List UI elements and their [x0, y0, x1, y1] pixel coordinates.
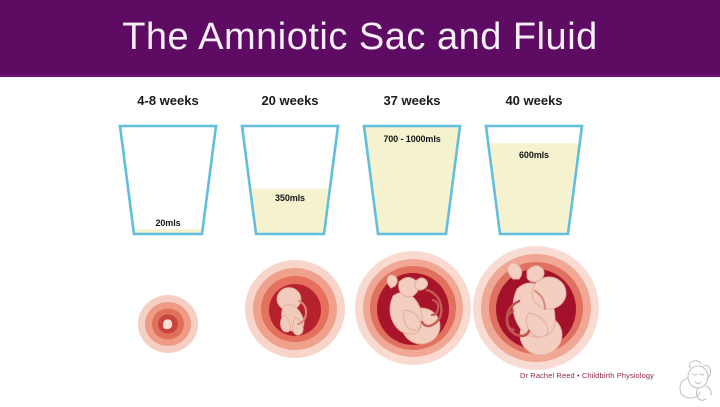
beaker-40-weeks: 600mls — [472, 122, 596, 238]
beaker-20-weeks: 350mls — [228, 122, 352, 238]
credit-text: Dr Rachel Reed • Childbirth Physiology — [520, 371, 654, 380]
stage-column-37-weeks: 37 weeks 700 - 1000mls — [350, 92, 474, 238]
fetus-illustration-icon — [471, 243, 601, 373]
stage-label-20-weeks: 20 weeks — [228, 92, 352, 110]
fetus-illustration-icon — [243, 257, 347, 361]
stage-label-4-8-weeks: 4-8 weeks — [106, 92, 230, 110]
volume-label-4-8-weeks: 20mls — [106, 218, 230, 228]
embryo-4-8-weeks — [131, 287, 205, 361]
volume-label-20-weeks: 350mls — [228, 193, 352, 203]
beaker-4-8-weeks: 20mls — [106, 122, 230, 238]
embryo-illustration-icon — [131, 287, 205, 361]
volume-label-40-weeks: 600mls — [472, 150, 596, 160]
baby-outline-logo-icon — [676, 358, 718, 402]
beaker-shape-icon — [472, 122, 596, 238]
stage-column-20-weeks: 20 weeks 350mls — [228, 92, 352, 238]
fetus-37-weeks — [353, 248, 473, 368]
stage-label-37-weeks: 37 weeks — [350, 92, 474, 110]
page-title: The Amniotic Sac and Fluid — [0, 0, 720, 74]
title-banner: The Amniotic Sac and Fluid — [0, 0, 720, 77]
stage-label-40-weeks: 40 weeks — [472, 92, 596, 110]
baby-outline-logo-shape-icon — [676, 358, 718, 402]
fetus-40-weeks — [471, 243, 601, 373]
stage-column-4-8-weeks: 4-8 weeks 20mls — [106, 92, 230, 238]
beaker-37-weeks: 700 - 1000mls — [350, 122, 474, 238]
fetus-20-weeks — [243, 257, 347, 361]
volume-label-37-weeks: 700 - 1000mls — [350, 134, 474, 144]
fetus-illustration-icon — [353, 248, 473, 368]
stage-column-40-weeks: 40 weeks 600mls — [472, 92, 596, 238]
beaker-shape-icon — [228, 122, 352, 238]
